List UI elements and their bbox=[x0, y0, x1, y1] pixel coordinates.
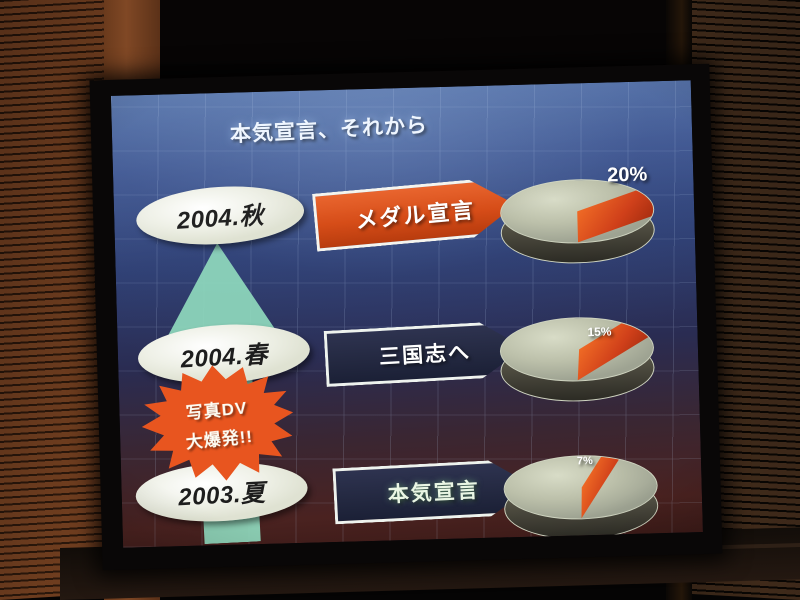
presentation-room-scene: 本気宣言、それから 2004.秋 メダル宣言 20% 2004.春 三国志へ bbox=[0, 0, 800, 600]
starburst-line-1: 写真DV bbox=[185, 393, 249, 424]
projection-screen: 本気宣言、それから 2004.秋 メダル宣言 20% 2004.春 三国志へ bbox=[111, 80, 703, 548]
pie-label-20: 20% bbox=[607, 163, 648, 187]
pie-chart-2003-summer: 7% bbox=[499, 447, 666, 547]
pie-chart-2004-spring: 15% bbox=[495, 309, 662, 409]
projection-screen-frame: 本気宣言、それから 2004.秋 メダル宣言 20% 2004.春 三国志へ bbox=[89, 64, 722, 571]
pie-label-7: 7% bbox=[577, 455, 593, 467]
pie-label-15: 15% bbox=[587, 324, 611, 339]
slide-canvas: 本気宣言、それから 2004.秋 メダル宣言 20% 2004.春 三国志へ bbox=[111, 80, 703, 548]
pie-chart-2004-autumn: 20% bbox=[495, 171, 662, 271]
starburst-line-2: 大爆発!! bbox=[184, 422, 253, 453]
